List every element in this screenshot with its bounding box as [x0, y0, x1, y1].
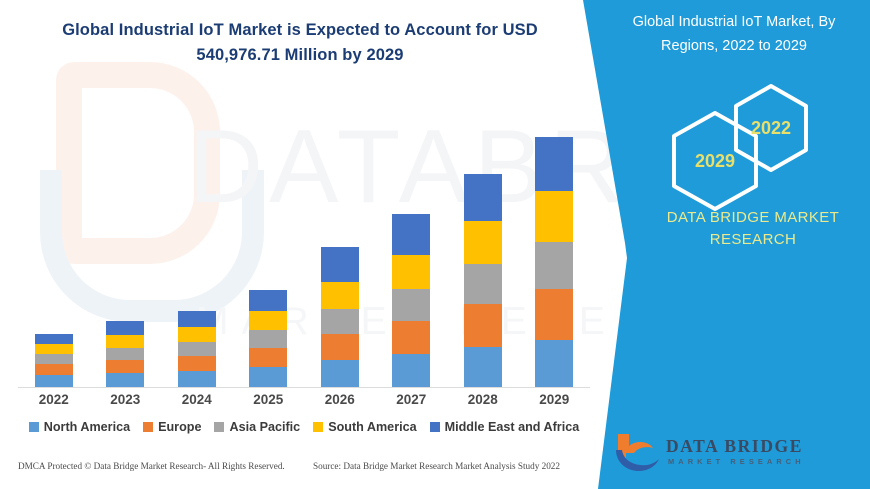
x-axis-label: 2025	[233, 392, 305, 407]
chart-infographic: DATABRIDGE MARKET RESEARCH Global Indust…	[0, 0, 870, 489]
logo-mark-icon	[612, 430, 664, 474]
legend-swatch-icon	[430, 422, 440, 432]
x-axis-label: 2028	[447, 392, 519, 407]
bar-segment[interactable]	[35, 344, 73, 354]
bar-segment[interactable]	[535, 242, 573, 289]
logo-text-main: DATA BRIDGE	[666, 436, 803, 457]
hexagon-badge-2029-label: 2029	[695, 151, 735, 172]
bar-slot	[304, 87, 376, 387]
bar-segment[interactable]	[178, 327, 216, 342]
x-axis-label: 2026	[304, 392, 376, 407]
legend-label: Middle East and Africa	[445, 420, 580, 434]
hexagon-badge-2029: 2029	[668, 109, 762, 213]
bar-slot	[18, 87, 90, 387]
bar-segment[interactable]	[321, 309, 359, 334]
footer-dmca-notice: DMCA Protected © Data Bridge Market Rese…	[18, 461, 285, 471]
bar-segment[interactable]	[464, 221, 502, 264]
x-axis-label: 2027	[376, 392, 448, 407]
bar-segment[interactable]	[35, 354, 73, 364]
legend-label: Europe	[158, 420, 201, 434]
bar-segment[interactable]	[464, 174, 502, 221]
legend-item[interactable]: Asia Pacific	[214, 420, 300, 434]
bar-segment[interactable]	[249, 367, 287, 387]
stacked-bar[interactable]	[321, 247, 359, 387]
bar-segment[interactable]	[106, 335, 144, 348]
logo-text-sub: MARKET RESEARCH	[668, 457, 805, 466]
stacked-bar[interactable]	[106, 321, 144, 387]
bar-segment[interactable]	[106, 321, 144, 335]
footer-source-note: Source: Data Bridge Market Research Mark…	[313, 461, 560, 471]
bar-segment[interactable]	[321, 282, 359, 309]
bar-segment[interactable]	[464, 304, 502, 347]
bar-segment[interactable]	[106, 360, 144, 373]
stacked-bar[interactable]	[464, 174, 502, 387]
hexagon-badges: 2022 2029	[668, 82, 868, 202]
bar-segment[interactable]	[392, 321, 430, 354]
bar-segment[interactable]	[178, 342, 216, 356]
bar-segment[interactable]	[535, 289, 573, 340]
bar-slot	[233, 87, 305, 387]
legend-swatch-icon	[143, 422, 153, 432]
bar-segment[interactable]	[249, 330, 287, 348]
bar-segment[interactable]	[535, 340, 573, 387]
stacked-bar[interactable]	[535, 137, 573, 387]
legend-swatch-icon	[214, 422, 224, 432]
bar-group	[18, 87, 590, 387]
bar-segment[interactable]	[464, 264, 502, 304]
footer: DMCA Protected © Data Bridge Market Rese…	[0, 458, 600, 480]
legend-label: South America	[328, 420, 416, 434]
x-axis-label: 2029	[519, 392, 591, 407]
bar-segment[interactable]	[321, 247, 359, 282]
panel-brand-line-1: DATA BRIDGE MARKET	[640, 207, 866, 229]
legend-item[interactable]: Middle East and Africa	[430, 420, 580, 434]
panel-brand-name: DATA BRIDGE MARKET RESEARCH	[640, 207, 866, 251]
legend-swatch-icon	[313, 422, 323, 432]
bar-segment[interactable]	[178, 356, 216, 371]
x-axis-label: 2023	[90, 392, 162, 407]
bar-segment[interactable]	[35, 334, 73, 344]
bar-segment[interactable]	[464, 347, 502, 387]
x-axis-labels: 20222023202420252026202720282029	[18, 392, 590, 407]
stacked-bar[interactable]	[392, 214, 430, 387]
bar-segment[interactable]	[392, 354, 430, 387]
bar-slot	[161, 87, 233, 387]
bar-segment[interactable]	[392, 255, 430, 289]
axis-baseline	[18, 387, 590, 388]
bar-slot	[90, 87, 162, 387]
chart-legend: North AmericaEuropeAsia PacificSouth Ame…	[18, 420, 590, 434]
hexagon-badge-2022-label: 2022	[751, 118, 791, 139]
bar-segment[interactable]	[321, 334, 359, 360]
legend-label: Asia Pacific	[229, 420, 300, 434]
bar-segment[interactable]	[106, 348, 144, 360]
bar-segment[interactable]	[321, 360, 359, 387]
stacked-bar[interactable]	[249, 290, 287, 387]
legend-label: North America	[44, 420, 130, 434]
bar-segment[interactable]	[35, 364, 73, 375]
bar-slot	[519, 87, 591, 387]
bar-segment[interactable]	[178, 311, 216, 327]
chart-title: Global Industrial IoT Market is Expected…	[22, 18, 578, 68]
bar-segment[interactable]	[249, 348, 287, 367]
bar-segment[interactable]	[106, 373, 144, 387]
panel-brand-line-2: RESEARCH	[640, 229, 866, 251]
legend-item[interactable]: Europe	[143, 420, 201, 434]
legend-swatch-icon	[29, 422, 39, 432]
plot-area	[18, 80, 588, 388]
x-axis-label: 2022	[18, 392, 90, 407]
legend-item[interactable]: North America	[29, 420, 130, 434]
stacked-bar[interactable]	[35, 334, 73, 387]
bar-segment[interactable]	[535, 191, 573, 242]
bar-segment[interactable]	[178, 371, 216, 387]
company-logo: DATA BRIDGE MARKET RESEARCH	[612, 430, 862, 476]
bar-segment[interactable]	[392, 214, 430, 255]
bar-slot	[376, 87, 448, 387]
bar-segment[interactable]	[392, 289, 430, 321]
legend-item[interactable]: South America	[313, 420, 416, 434]
bar-segment[interactable]	[249, 290, 287, 311]
bar-segment[interactable]	[535, 137, 573, 191]
x-axis-label: 2024	[161, 392, 233, 407]
bar-segment[interactable]	[35, 375, 73, 387]
bar-slot	[447, 87, 519, 387]
bar-segment[interactable]	[249, 311, 287, 330]
stacked-bar[interactable]	[178, 311, 216, 387]
panel-title: Global Industrial IoT Market, By Regions…	[605, 10, 863, 58]
